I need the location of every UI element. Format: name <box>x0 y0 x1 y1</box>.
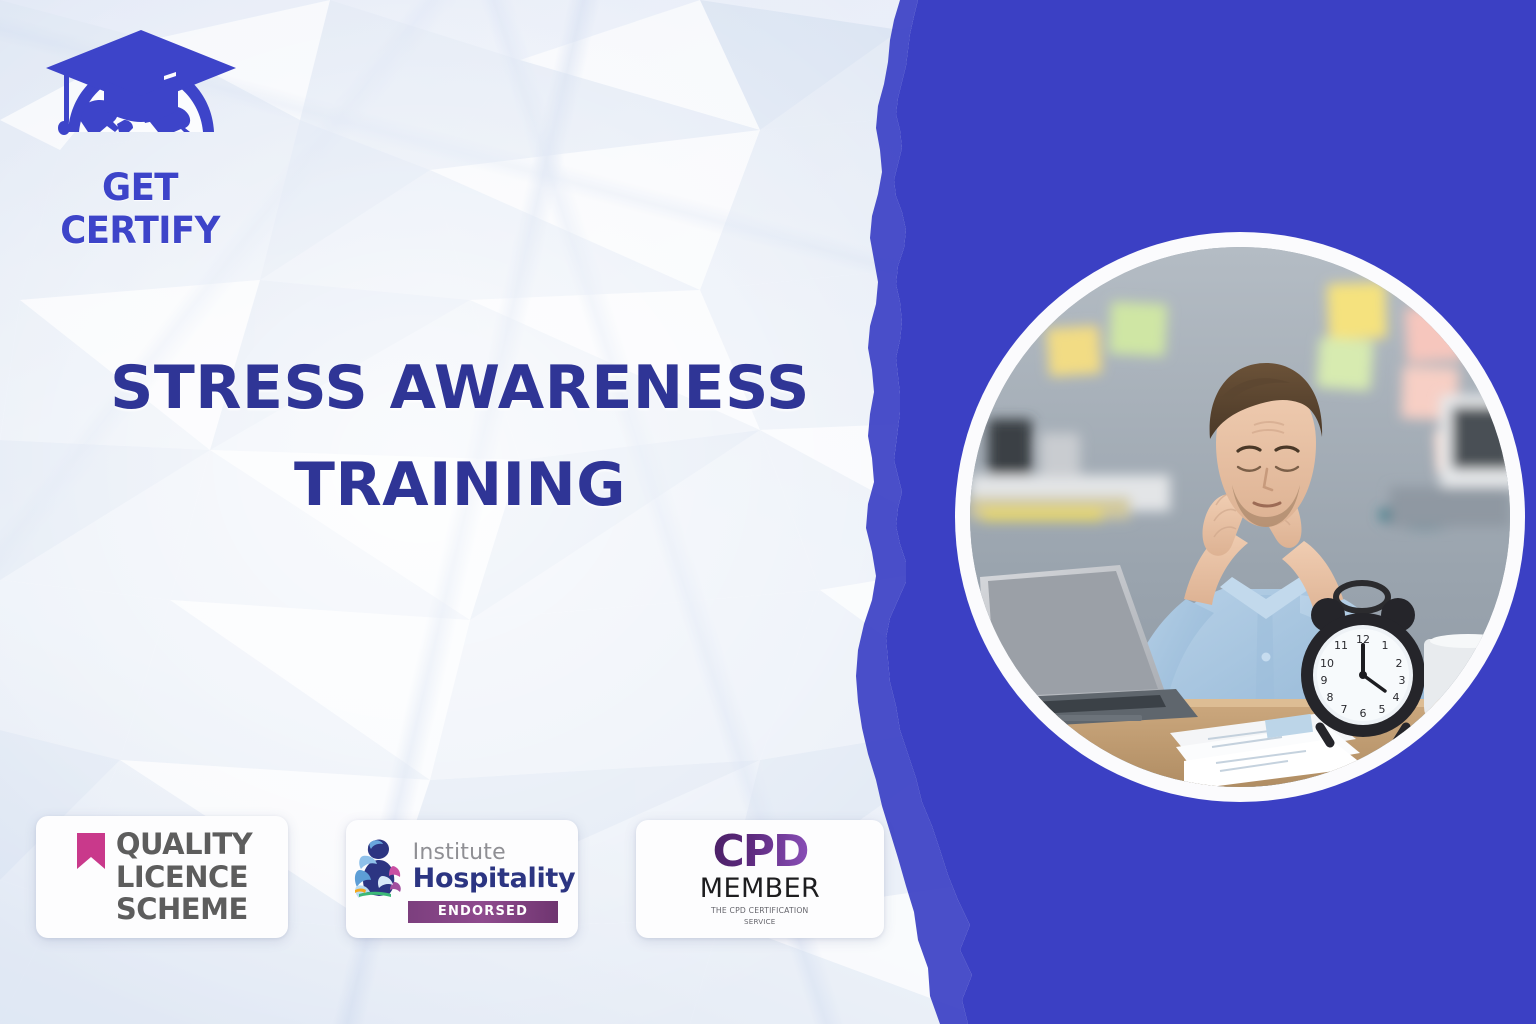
accreditation-badges: QUALITY LICENCE SCHEME <box>36 816 884 938</box>
qls-line-1: QUALITY <box>116 827 252 861</box>
badge-institute-of-hospitality[interactable]: Institute Hospitality ENDORSED <box>346 820 578 938</box>
cpd-fine-line-2: SERVICE <box>711 917 808 927</box>
graduation-cap-globe-icon <box>36 28 246 168</box>
brand-name: GET CERTIFY <box>25 166 255 252</box>
stressed-man-at-desk-photo: 12 1 2 3 4 5 6 7 8 9 10 11 <box>970 247 1510 787</box>
bookmark-icon <box>76 832 106 870</box>
cpd-fine-print: THE CPD CERTIFICATION SERVICE <box>711 906 808 927</box>
ioh-hospitality-text: Hospitality <box>413 865 576 892</box>
course-banner: GET CERTIFY STRESS AWARENESS TRAINING QU… <box>0 0 1536 1024</box>
badge-quality-licence-scheme[interactable]: QUALITY LICENCE SCHEME <box>36 816 288 938</box>
cpd-logo-text: CPD <box>712 830 807 874</box>
hospitality-emblem-icon <box>349 836 409 898</box>
cpd-member-text: MEMBER <box>700 875 820 902</box>
title-line-1: STRESS AWARENESS <box>110 353 810 423</box>
title-line-2: TRAINING <box>60 437 860 534</box>
cpd-fine-line-1: THE CPD CERTIFICATION <box>711 906 808 915</box>
ioh-institute-text: Institute <box>413 842 576 864</box>
qls-line-2: LICENCE <box>116 860 248 894</box>
qls-line-3: SCHEME <box>116 892 248 926</box>
ioh-endorsed-ribbon: ENDORSED <box>408 901 558 923</box>
page-title: STRESS AWARENESS TRAINING <box>60 340 860 534</box>
badge-qls-text: QUALITY LICENCE SCHEME <box>116 828 252 926</box>
photo-circle-frame: 12 1 2 3 4 5 6 7 8 9 10 11 <box>955 232 1525 802</box>
brand-logo[interactable]: GET CERTIFY <box>20 28 260 220</box>
badge-cpd-member[interactable]: CPD MEMBER THE CPD CERTIFICATION SERVICE <box>636 820 884 938</box>
